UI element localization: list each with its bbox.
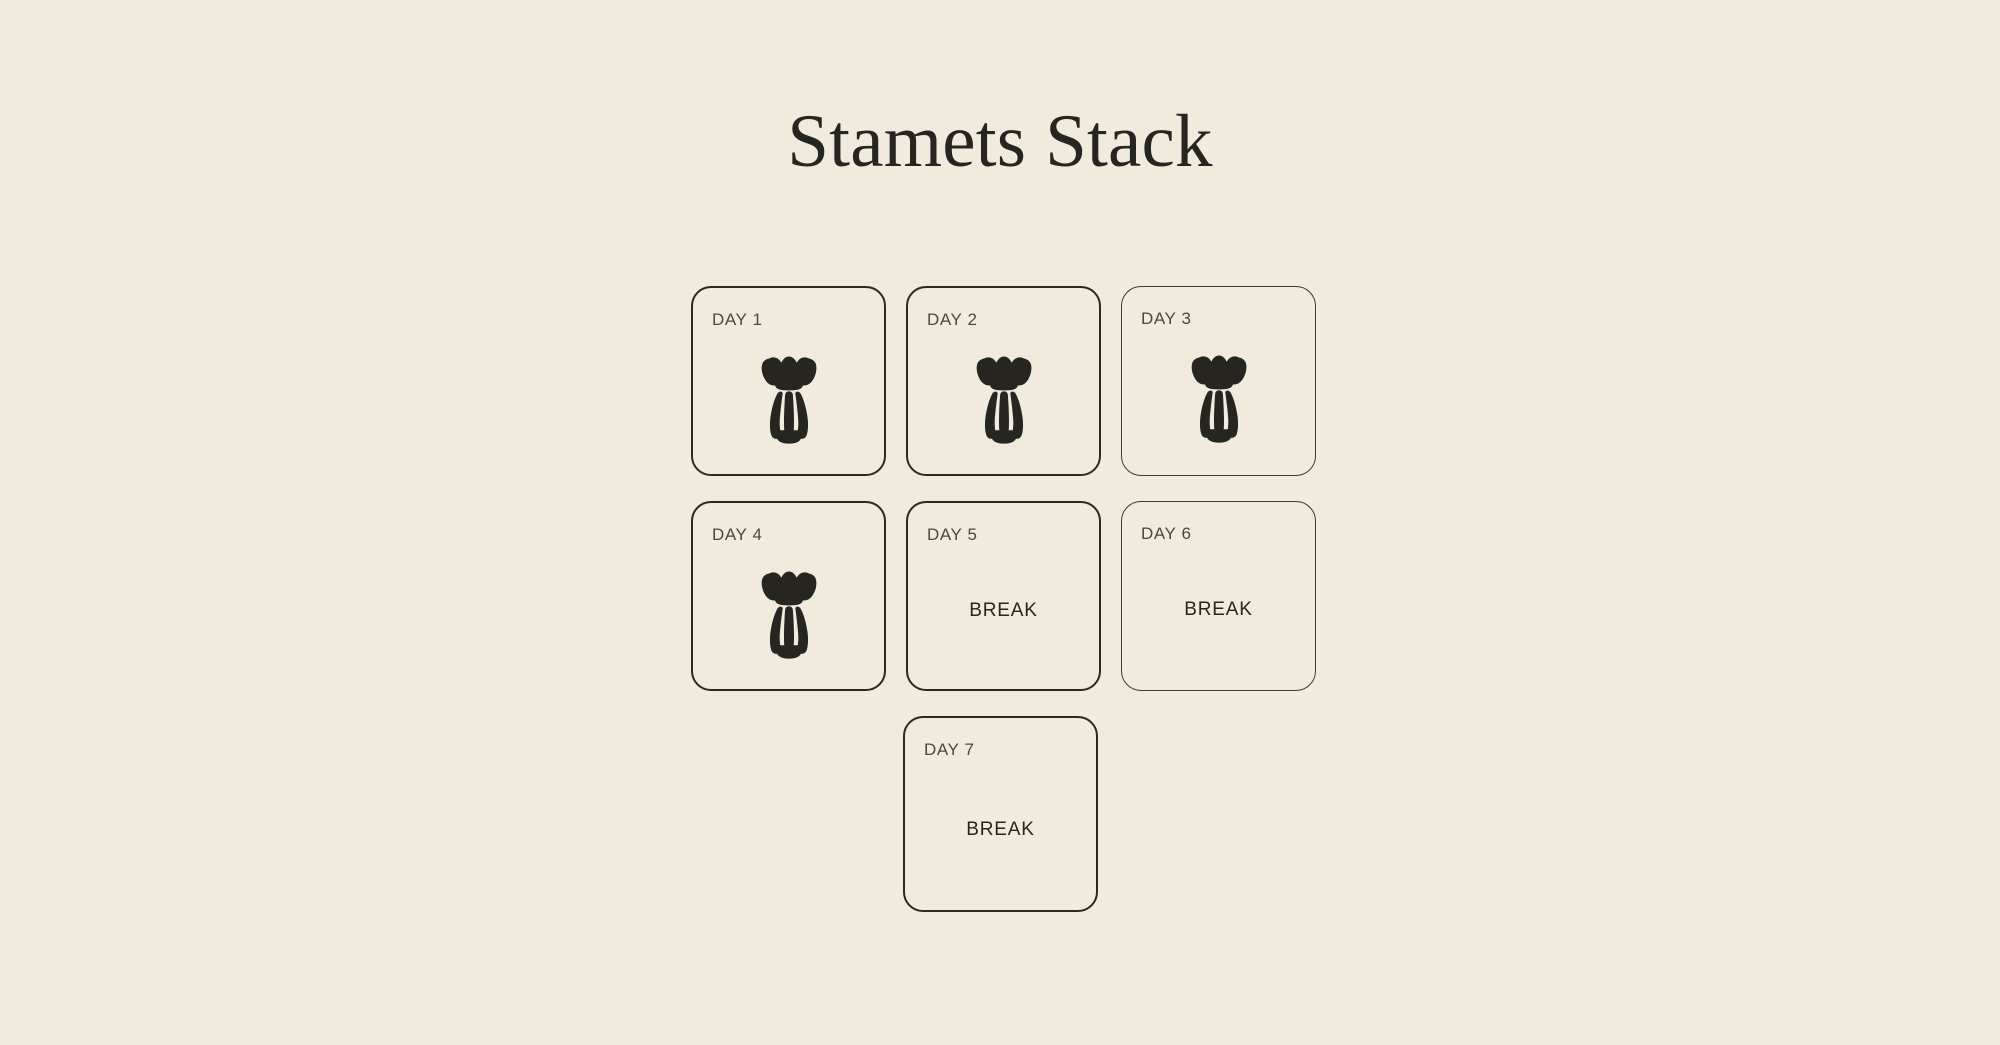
schedule-row: DAY 4 xyxy=(691,501,1316,691)
day-card-label: DAY 4 xyxy=(712,525,763,545)
day-card-4[interactable]: DAY 4 xyxy=(691,501,886,691)
day-card-1[interactable]: DAY 1 xyxy=(691,286,886,476)
day-card-label: DAY 7 xyxy=(924,740,975,760)
mushroom-icon xyxy=(693,565,884,659)
break-label: BREAK xyxy=(905,819,1096,841)
day-card-7[interactable]: DAY 7 BREAK xyxy=(903,716,1098,912)
schedule-grid: DAY 1 xyxy=(691,286,1316,912)
stamets-stack-page: Stamets Stack DAY 1 xyxy=(0,0,2000,1045)
break-label: BREAK xyxy=(908,600,1099,622)
mushroom-icon xyxy=(908,350,1099,444)
schedule-row: DAY 7 BREAK xyxy=(691,716,1316,912)
schedule-row: DAY 1 xyxy=(691,286,1316,476)
day-card-2[interactable]: DAY 2 xyxy=(906,286,1101,476)
day-card-label: DAY 6 xyxy=(1141,524,1192,544)
day-card-5[interactable]: DAY 5 BREAK xyxy=(906,501,1101,691)
day-card-label: DAY 2 xyxy=(927,310,978,330)
day-card-label: DAY 3 xyxy=(1141,309,1192,329)
day-card-6[interactable]: DAY 6 BREAK xyxy=(1121,501,1316,691)
day-card-label: DAY 1 xyxy=(712,310,763,330)
page-title: Stamets Stack xyxy=(0,104,2000,179)
mushroom-icon xyxy=(693,350,884,444)
day-card-label: DAY 5 xyxy=(927,525,978,545)
mushroom-icon xyxy=(1122,349,1315,443)
day-card-3[interactable]: DAY 3 xyxy=(1121,286,1316,476)
break-label: BREAK xyxy=(1122,599,1315,621)
